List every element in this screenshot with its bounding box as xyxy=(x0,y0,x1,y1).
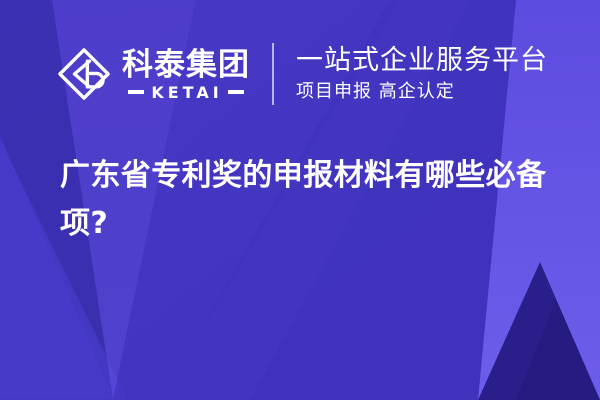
company-name-en-row: KETAI xyxy=(122,84,250,101)
company-name-cn: 科泰集团 xyxy=(122,48,250,82)
logo-lockup[interactable]: 科泰集团 KETAI xyxy=(56,38,250,110)
vertical-divider xyxy=(272,43,274,105)
ketai-diamond-k-logo-icon xyxy=(56,46,112,102)
rule-right-icon xyxy=(228,90,244,94)
promo-banner: 科泰集团 KETAI 一站式企业服务平台 项目申报 高企认定 广东省专利奖的申报… xyxy=(0,0,600,400)
rule-left-icon xyxy=(128,90,144,94)
brand-header: 科泰集团 KETAI 一站式企业服务平台 项目申报 高企认定 xyxy=(56,38,548,110)
tagline-secondary: 项目申报 高企认定 xyxy=(296,80,548,104)
logo-wordmark: 科泰集团 KETAI xyxy=(122,43,250,105)
tagline-primary: 一站式企业服务平台 xyxy=(296,44,548,77)
company-name-en: KETAI xyxy=(151,84,222,101)
tagline-block: 一站式企业服务平台 项目申报 高企认定 xyxy=(296,40,548,108)
headline-title: 广东省专利奖的申报材料有哪些必备项? xyxy=(60,152,572,248)
